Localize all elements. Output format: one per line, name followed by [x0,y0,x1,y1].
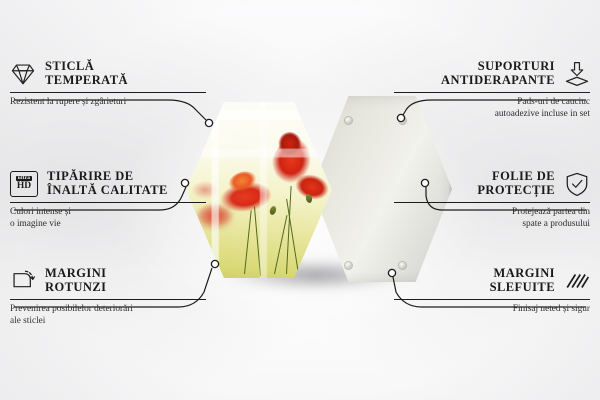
feature-title: TIPĂRIRE DE ÎNALTĂ CALITATE [47,170,168,197]
adhesive-pad [345,117,352,124]
feature-title: FOLIE DE PROTECȚIE [477,170,555,197]
feature-margini-slefuite: MARGINI SLEFUITE Finisaj neted și sigur [394,267,590,316]
divider [394,92,590,93]
divider [394,202,590,203]
feature-title: STICLĂ TEMPERATĂ [45,60,128,87]
feature-description: Prevenirea posibilelor deteriorări ale s… [10,304,206,327]
feature-suporturi-antiderapante: SUPORTURI ANTIDERAPANTE Pads-uri de cauc… [394,60,590,120]
ultra-hd-badge-icon: ultra HD [10,171,38,197]
feature-folie-de-protectie: FOLIE DE PROTECȚIE Protejează partea din… [394,170,590,230]
feature-header: STICLĂ TEMPERATĂ [10,60,206,87]
adhesive-pad [345,262,352,269]
feature-header: ultra HD TIPĂRIRE DE ÎNALTĂ CALITATE [10,170,206,197]
divider [10,92,206,93]
feature-header: FOLIE DE PROTECȚIE [394,170,590,197]
feature-description: Rezistent la rupere și zgârieturi [10,97,206,108]
feature-description: Pads-uri de cauciuc autoadezive incluse … [394,97,590,120]
feature-title: MARGINI SLEFUITE [490,267,555,294]
feature-description: Protejează partea din spate a produsului [394,207,590,230]
divider [10,202,206,203]
shield-check-icon [564,171,590,197]
diamond-icon [10,61,36,87]
feature-header: MARGINI SLEFUITE [394,267,590,294]
feature-title: SUPORTURI ANTIDERAPANTE [441,60,555,87]
divider [394,299,590,300]
feature-description: Culori intense și o imagine vie [10,207,206,230]
feature-header: SUPORTURI ANTIDERAPANTE [394,60,590,87]
feature-margini-rotunzi: MARGINI ROTUNZI Prevenirea posibilelor d… [10,267,206,327]
infographic-canvas: STICLĂ TEMPERATĂ Rezistent la rupere și … [0,0,600,400]
feature-header: MARGINI ROTUNZI [10,267,206,294]
feature-description: Finisaj neted și sigur [394,304,590,315]
feature-tiparire-inalta-calitate: ultra HD TIPĂRIRE DE ÎNALTĂ CALITATE Cul… [10,170,206,230]
divider [10,299,206,300]
feature-sticla-temperata: STICLĂ TEMPERATĂ Rezistent la rupere și … [10,60,206,109]
rounded-corner-icon [10,268,36,294]
polished-edge-hatch-icon [564,268,590,294]
feature-title: MARGINI ROTUNZI [45,267,107,294]
adhesive-pad-arrow-icon [564,61,590,87]
